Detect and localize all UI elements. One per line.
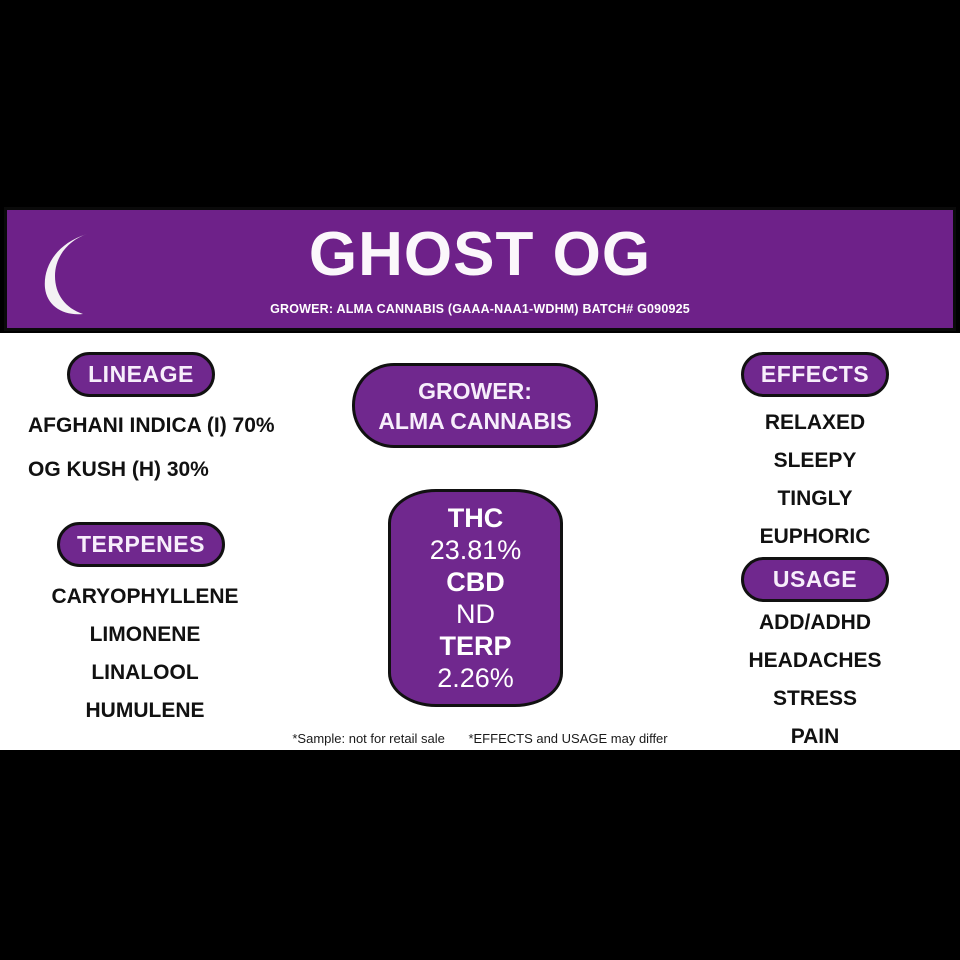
list-item: LINALOOL <box>0 654 290 692</box>
label-card: GHOST OG GROWER: ALMA CANNABIS (GAAA-NAA… <box>0 0 960 960</box>
list-item: HUMULENE <box>0 692 290 730</box>
potency-value-cbd: ND <box>456 598 495 630</box>
list-item: CARYOPHYLLENE <box>0 578 290 616</box>
disclaimer: *Sample: not for retail sale *EFFECTS an… <box>0 731 960 746</box>
potency-capsule: THC 23.81% CBD ND TERP 2.26% <box>388 489 563 707</box>
section-heading-effects: EFFECTS <box>741 352 889 397</box>
list-item: STRESS <box>690 680 940 718</box>
section-heading-usage: USAGE <box>741 557 889 602</box>
page-title: GHOST OG <box>7 223 953 287</box>
effects-heading-label: EFFECTS <box>761 361 869 388</box>
potency-value-terp: 2.26% <box>437 662 514 694</box>
terpenes-heading-label: TERPENES <box>77 531 205 558</box>
lineage-list: AFGHANI INDICA (I) 70% OG KUSH (H) 30% <box>0 404 310 492</box>
list-item: HEADACHES <box>690 642 940 680</box>
list-item: AFGHANI INDICA (I) 70% <box>0 404 310 448</box>
list-item: TINGLY <box>690 480 940 518</box>
list-item: RELAXED <box>690 404 940 442</box>
list-item: OG KUSH (H) 30% <box>0 448 310 492</box>
potency-value-thc: 23.81% <box>430 534 522 566</box>
terpenes-list: CARYOPHYLLENE LIMONENE LINALOOL HUMULENE <box>0 578 290 730</box>
grower-name: ALMA CANNABIS <box>378 406 571 436</box>
lineage-heading-label: LINEAGE <box>88 361 194 388</box>
usage-heading-label: USAGE <box>773 566 857 593</box>
potency-label-terp: TERP <box>439 630 511 662</box>
effects-list: RELAXED SLEEPY TINGLY EUPHORIC <box>690 404 940 556</box>
disclaimer-effects: *EFFECTS and USAGE may differ <box>468 731 667 746</box>
section-heading-lineage: LINEAGE <box>67 352 215 397</box>
banner-subtitle: GROWER: ALMA CANNABIS (GAAA-NAA1-WDHM) B… <box>7 302 953 316</box>
header-banner: GHOST OG GROWER: ALMA CANNABIS (GAAA-NAA… <box>4 207 956 331</box>
potency-label-thc: THC <box>448 502 504 534</box>
grower-badge: GROWER: ALMA CANNABIS <box>352 363 598 448</box>
section-heading-terpenes: TERPENES <box>57 522 225 567</box>
list-item: ADD/ADHD <box>690 604 940 642</box>
list-item: SLEEPY <box>690 442 940 480</box>
grower-label: GROWER: <box>418 376 532 406</box>
potency-label-cbd: CBD <box>446 566 505 598</box>
list-item: LIMONENE <box>0 616 290 654</box>
disclaimer-sample: *Sample: not for retail sale <box>292 731 444 746</box>
list-item: EUPHORIC <box>690 518 940 556</box>
